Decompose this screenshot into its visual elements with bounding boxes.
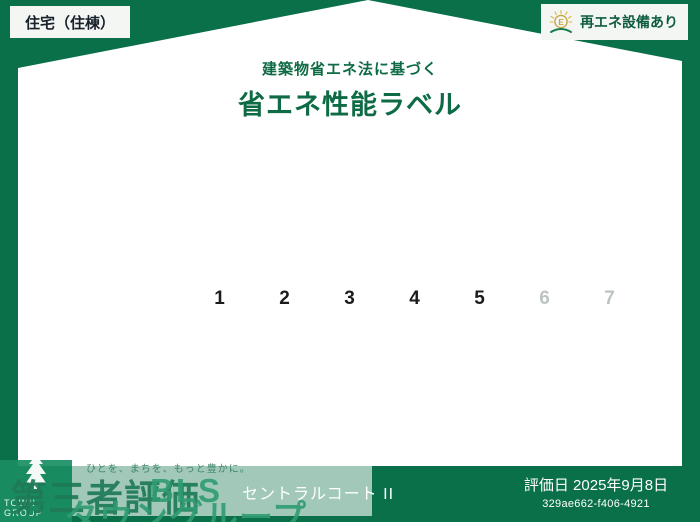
building-type-tag: 住宅（住棟）	[10, 6, 130, 38]
renewable-badge-label: 再エネ設備あり	[580, 12, 678, 32]
svg-text:E: E	[558, 18, 564, 27]
building-name: セントラルコート II	[242, 480, 394, 504]
sun-renewable-icon: E	[547, 8, 575, 36]
energy-performance-label: 住宅（住棟） E 再エネ設備あり 建築物	[0, 0, 700, 522]
evaluation-info: 評価日 2025年9月8日 329ae662-f406-4921	[506, 474, 686, 510]
evaluation-id: 329ae662-f406-4921	[506, 498, 686, 510]
page-title: 建築物省エネ法に基づく 省エネ性能ラベル	[18, 58, 682, 122]
label-content: 建築物省エネ法に基づく 省エネ性能ラベル	[18, 0, 682, 466]
renewable-energy-badge: E 再エネ設備あり	[541, 4, 688, 40]
footer-bar: セントラルコート II 評価日 2025年9月8日 329ae662-f406-…	[0, 466, 700, 522]
title-subtitle: 建築物省エネ法に基づく	[18, 58, 682, 79]
evaluation-date: 評価日 2025年9月8日	[506, 474, 686, 495]
title-main: 省エネ性能ラベル	[18, 83, 682, 122]
